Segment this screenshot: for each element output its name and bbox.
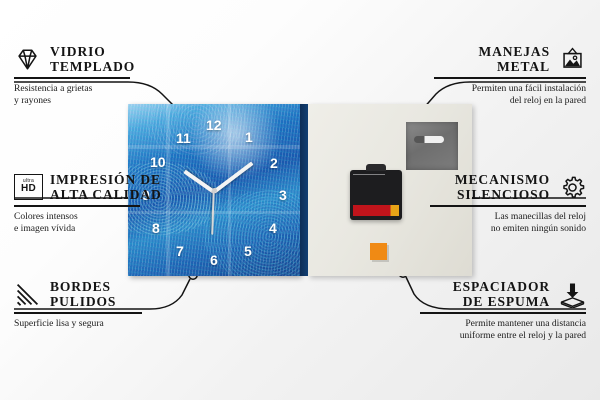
feature-desc-line2: del reloj en la pared	[510, 95, 586, 106]
feature-description: Resistencia a grietas y rayones	[14, 83, 224, 108]
clock-numeral-5: 5	[244, 244, 252, 258]
feature-desc-line1: Permiten una fácil instalación	[472, 83, 586, 94]
feature-title: VIDRIO TEMPLADO	[50, 44, 135, 74]
polished-edges-icon	[14, 281, 41, 308]
feature-title: BORDES PULIDOS	[50, 279, 116, 309]
feature-title-line2: ALTA CALIDAD	[50, 187, 162, 202]
feature-title: MECANISMO SILENCIOSO	[455, 172, 550, 202]
feature-title-line1: IMPRESIÓN DE	[50, 172, 161, 187]
feature-divider	[14, 77, 130, 79]
clock-numeral-12: 12	[206, 118, 222, 132]
feature-desc-line1: Las manecillas del reloj	[495, 211, 586, 222]
clock-side-edge	[300, 104, 308, 276]
feature-desc-line2: no emiten ningún sonido	[491, 223, 586, 234]
feature-header: MANEJAS METAL	[376, 44, 586, 74]
infographic-stage: 12 1 2 3 4 5 6 7 8 9 10 11	[0, 0, 600, 400]
feature-desc-line2: e imagen vívida	[14, 223, 75, 234]
clock-numeral-11: 11	[176, 131, 191, 145]
feature-title-line1: BORDES	[50, 279, 111, 294]
feature-title-line1: VIDRIO	[50, 44, 106, 59]
ultra-hd-large-text: HD	[21, 184, 36, 194]
metal-hanger-plate	[406, 122, 458, 170]
feature-desc-line1: Resistencia a grietas	[14, 83, 92, 94]
feature-title-line1: MECANISMO	[455, 172, 550, 187]
feature-divider	[420, 312, 586, 314]
clock-numeral-1: 1	[245, 130, 253, 144]
feature-title: IMPRESIÓN DE ALTA CALIDAD	[50, 172, 162, 202]
feature-manejas-metal: MANEJAS METAL Permiten una fácil instala…	[376, 44, 586, 108]
feature-desc-line1: Permite mantener una distancia	[465, 318, 586, 329]
feature-espaciador-espuma: ESPACIADOR DE ESPUMA Permite mantener un…	[376, 279, 586, 343]
clock-numeral-4: 4	[269, 221, 277, 235]
feature-description: Permiten una fácil instalación del reloj…	[376, 83, 586, 108]
clock-numeral-10: 10	[150, 155, 166, 169]
feature-title-line2: METAL	[497, 59, 550, 74]
feature-description: Colores intensos e imagen vívida	[14, 211, 224, 236]
feature-divider	[14, 205, 140, 207]
feature-divider	[430, 205, 586, 207]
feature-title: ESPACIADOR DE ESPUMA	[453, 279, 550, 309]
feature-title-line1: MANEJAS	[478, 44, 550, 59]
feature-desc-line1: Superficie lisa y segura	[14, 318, 104, 329]
hanging-picture-icon	[559, 46, 586, 73]
feature-header: VIDRIO TEMPLADO	[14, 44, 224, 74]
feature-description: Superficie lisa y segura	[14, 318, 224, 330]
feature-header: ultra HD IMPRESIÓN DE ALTA CALIDAD	[14, 172, 224, 202]
ultra-hd-badge-icon: ultra HD	[14, 174, 41, 201]
mechanism-tab	[366, 164, 386, 171]
clock-numeral-6: 6	[210, 253, 218, 267]
clock-numeral-3: 3	[279, 188, 287, 202]
foam-spacer-square	[370, 243, 387, 260]
feature-header: MECANISMO SILENCIOSO	[376, 172, 586, 202]
feature-mecanismo-silencioso: MECANISMO SILENCIOSO Las manecillas del …	[376, 172, 586, 236]
feature-description: Permite mantener una distancia uniforme …	[376, 318, 586, 343]
feature-desc-line2: y rayones	[14, 95, 51, 106]
hanger-keyhole-slot	[414, 136, 444, 143]
feature-header: BORDES PULIDOS	[14, 279, 224, 309]
feature-title-line1: ESPACIADOR	[453, 279, 550, 294]
feature-title-line2: DE ESPUMA	[463, 294, 550, 309]
arrow-onto-pad-icon	[559, 281, 586, 308]
feature-desc-line2: uniforme entre el reloj y la pared	[460, 330, 586, 341]
gear-icon	[559, 174, 586, 201]
feature-impresion-alta-calidad: ultra HD IMPRESIÓN DE ALTA CALIDAD Color…	[14, 172, 224, 236]
feature-bordes-pulidos: BORDES PULIDOS Superficie lisa y segura	[14, 279, 224, 330]
feature-title: MANEJAS METAL	[478, 44, 550, 74]
feature-title-line2: PULIDOS	[50, 294, 116, 309]
feature-title-line2: SILENCIOSO	[457, 187, 550, 202]
feature-title-line2: TEMPLADO	[50, 59, 135, 74]
clock-numeral-2: 2	[270, 156, 278, 170]
feature-divider	[14, 312, 142, 314]
feature-desc-line1: Colores intensos	[14, 211, 78, 222]
feature-description: Las manecillas del reloj no emiten ningú…	[376, 211, 586, 236]
clock-numeral-7: 7	[176, 244, 184, 258]
feature-divider	[434, 77, 586, 79]
feature-header: ESPACIADOR DE ESPUMA	[376, 279, 586, 309]
diamond-icon	[14, 46, 41, 73]
feature-vidrio-templado: VIDRIO TEMPLADO Resistencia a grietas y …	[14, 44, 224, 108]
